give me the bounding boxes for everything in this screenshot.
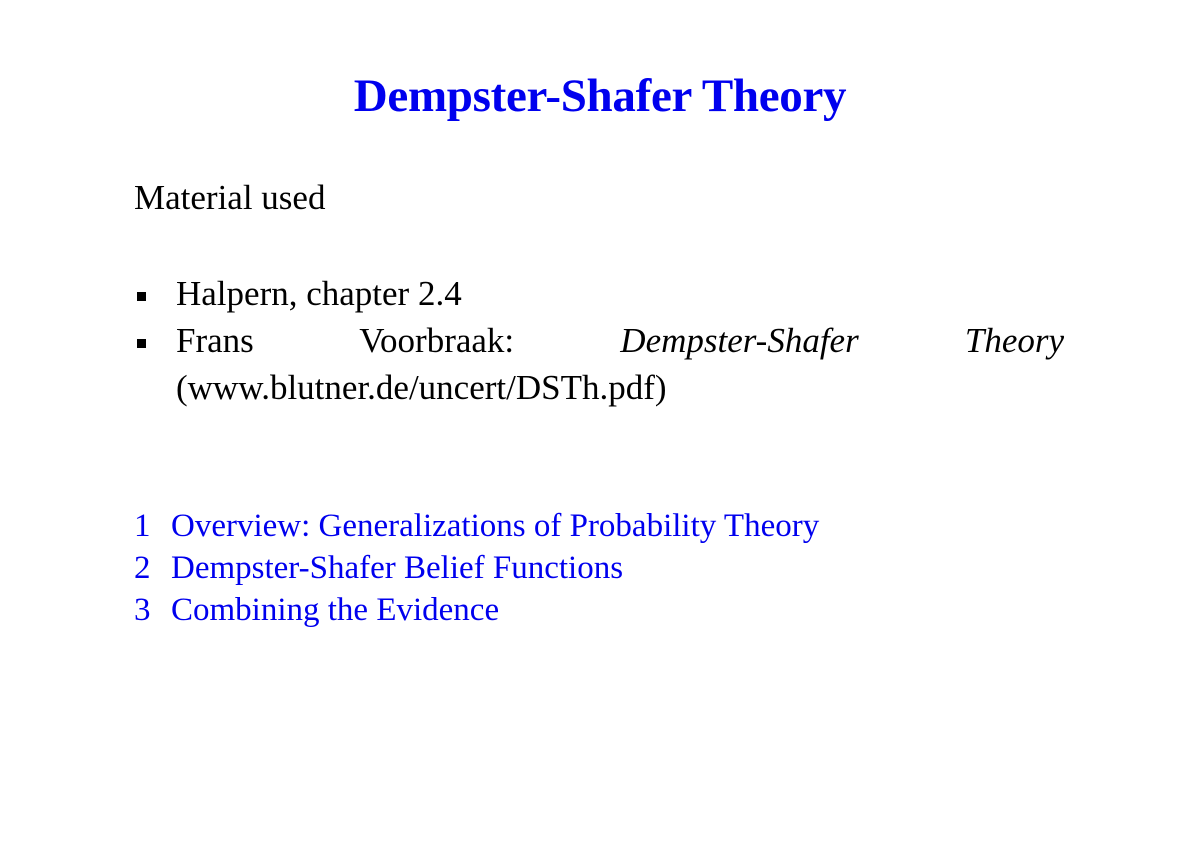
square-bullet-icon: [137, 292, 146, 301]
list-item: Halpern, chapter 2.4: [134, 270, 1064, 317]
agenda-item-2: 2 Dempster-Shafer Belief Functions: [134, 547, 1034, 589]
material-used-heading: Material used: [134, 176, 1064, 220]
reference-surname: Voorbraak:: [359, 321, 514, 360]
list-item-label: Halpern, chapter 2.4: [176, 270, 1064, 317]
agenda-number: 2: [134, 547, 171, 589]
body-content: Material used Halpern, chapter 2.4 Frans…: [134, 176, 1064, 220]
materials-list: Halpern, chapter 2.4 Frans Voorbraak: De…: [134, 270, 1064, 411]
agenda-number: 1: [134, 505, 171, 547]
agenda-number: 3: [134, 589, 171, 631]
agenda-label: Overview: Generalizations of Probability…: [171, 505, 819, 547]
list-item: Frans Voorbraak: Dempster-Shafer Theory(…: [134, 317, 1064, 411]
reference-title-part1: Dempster-Shafer: [620, 321, 858, 360]
page-title: Dempster-Shafer Theory: [0, 67, 1200, 125]
square-bullet-icon: [137, 339, 146, 348]
agenda-label: Combining the Evidence: [171, 589, 499, 631]
agenda-item-1: 1 Overview: Generalizations of Probabili…: [134, 505, 1034, 547]
agenda-list: 1 Overview: Generalizations of Probabili…: [134, 505, 1034, 631]
reference-author: Frans: [176, 321, 254, 360]
reference-url: (www.blutner.de/uncert/DSTh.pdf): [176, 364, 1064, 411]
list-item-label: Frans Voorbraak: Dempster-Shafer Theory(…: [176, 317, 1064, 411]
agenda-label: Dempster-Shafer Belief Functions: [171, 547, 623, 589]
reference-title-part2: Theory: [965, 321, 1064, 360]
agenda-item-3: 3 Combining the Evidence: [134, 589, 1034, 631]
slide-canvas: Dempster-Shafer Theory Material used Hal…: [0, 0, 1200, 848]
